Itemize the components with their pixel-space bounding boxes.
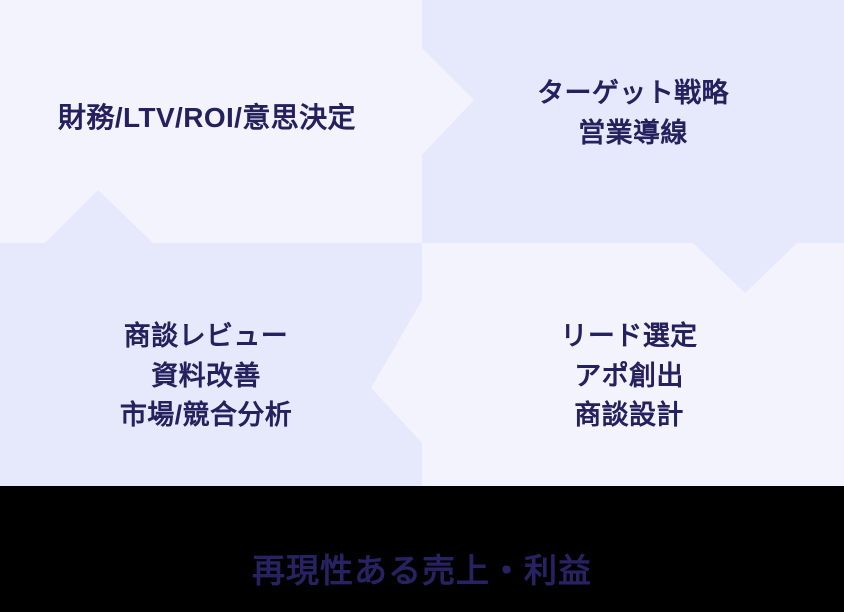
quadrant-finance-label: 財務/LTV/ROI/意思決定 bbox=[58, 97, 356, 138]
quadrant-deal-review[interactable]: 商談レビュー 資料改善 市場/競合分析 bbox=[0, 243, 422, 486]
quadrant-deal-review-label: 商談レビュー 資料改善 市場/競合分析 bbox=[120, 317, 292, 437]
quadrant-board: 財務/LTV/ROI/意思決定 ターゲット戦略 営業導線 商談レビュー 資料改善… bbox=[0, 0, 844, 486]
footer-caption: 再現性ある売上・利益 bbox=[252, 554, 592, 587]
quadrant-target-strategy[interactable]: ターゲット戦略 営業導線 bbox=[422, 0, 844, 243]
cycle-diagram-root: 財務/LTV/ROI/意思決定 ターゲット戦略 営業導線 商談レビュー 資料改善… bbox=[0, 0, 844, 612]
quadrant-target-strategy-label: ターゲット戦略 営業導線 bbox=[537, 74, 729, 154]
quadrant-finance[interactable]: 財務/LTV/ROI/意思決定 bbox=[0, 0, 422, 243]
footer-band: 再現性ある売上・利益 bbox=[0, 486, 844, 612]
quadrant-lead-generation[interactable]: リード選定 アポ創出 商談設計 bbox=[422, 243, 844, 486]
quadrant-lead-generation-label: リード選定 アポ創出 商談設計 bbox=[561, 317, 698, 437]
